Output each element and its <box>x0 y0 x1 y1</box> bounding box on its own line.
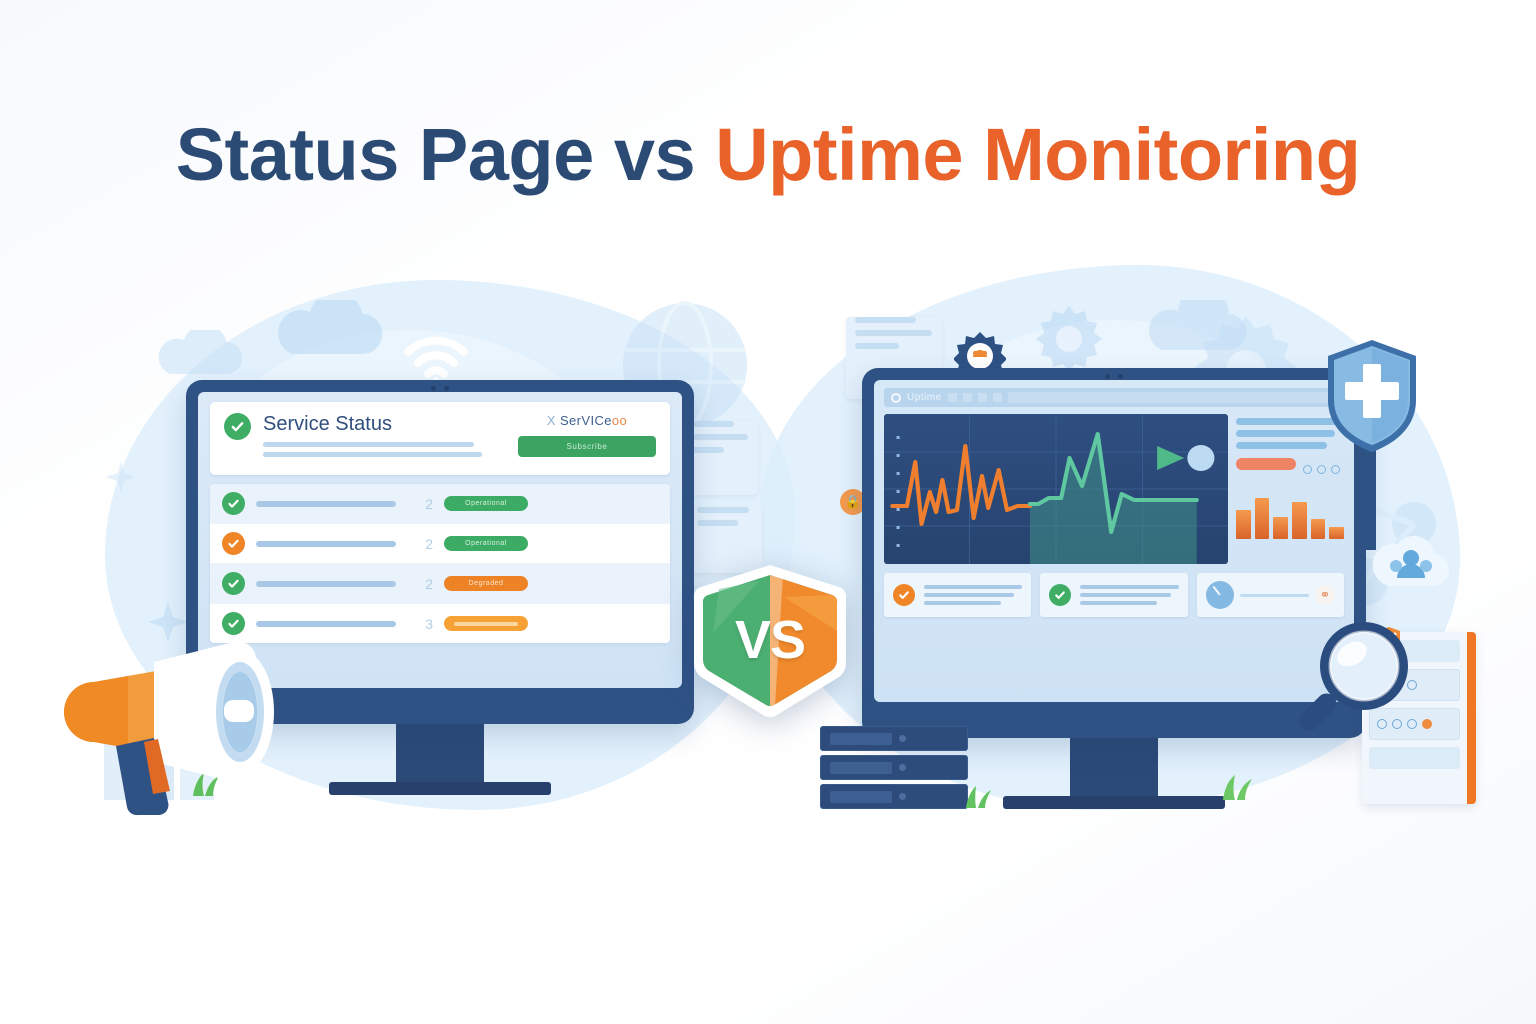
page-title: Status Page vs Uptime Monitoring <box>0 118 1536 192</box>
server-rack <box>820 726 968 813</box>
service-name-placeholder <box>256 581 396 587</box>
list-item[interactable] <box>1040 573 1187 617</box>
toolbar-segment[interactable] <box>963 393 972 402</box>
illustration-canvas: Status Page vs Uptime Monitoring <box>0 0 1536 1024</box>
connector-line <box>1240 594 1309 597</box>
check-circle-green-icon <box>224 413 251 440</box>
status-badge <box>444 616 528 631</box>
table-row[interactable]: 2 Operational <box>210 484 670 524</box>
toolbar-segment[interactable] <box>978 393 987 402</box>
row-number: 3 <box>407 616 433 632</box>
toolbar-segment[interactable] <box>993 393 1002 402</box>
monitor-neck <box>1070 738 1158 796</box>
brand-suffix: oo <box>612 413 627 428</box>
sparkle-icon <box>104 460 138 494</box>
shield-cross-icon <box>1324 338 1420 454</box>
monitor-base <box>1003 796 1225 809</box>
status-badge: Operational <box>444 496 528 511</box>
brand-x: X <box>547 413 556 428</box>
dashboard-label: Uptime <box>907 392 942 403</box>
side-bar-chart <box>1236 487 1344 539</box>
status-page-title: Service Status <box>263 413 506 435</box>
title-part-accent: Uptime Monitoring <box>715 113 1360 196</box>
shield-small-icon: ⚭ <box>1315 585 1335 605</box>
row-number: 2 <box>407 536 433 552</box>
server-unit <box>820 755 968 780</box>
server-unit <box>820 726 968 751</box>
gear-icon <box>1030 300 1108 378</box>
row-number: 2 <box>407 496 433 512</box>
list-item[interactable]: ⚭ <box>1197 573 1344 617</box>
status-badge: Operational <box>444 536 528 551</box>
magnifying-glass-icon <box>1288 614 1418 744</box>
service-status-list: 2 Operational 2 Operational <box>210 484 670 643</box>
pagination-dots[interactable] <box>1303 465 1344 474</box>
check-circle-orange-icon <box>893 584 915 606</box>
subscribe-button[interactable]: Subscribe <box>518 436 656 457</box>
table-row[interactable]: 2 Operational <box>210 524 670 564</box>
grass-decoration <box>1218 770 1264 800</box>
check-circle-green-icon <box>222 572 245 595</box>
placeholder-line <box>263 442 474 447</box>
status-badge: Degraded <box>444 576 528 591</box>
placeholder-line <box>263 452 482 457</box>
brand-text: SerVICe <box>560 413 612 428</box>
dashboard-toolbar: Uptime <box>884 388 1344 407</box>
check-circle-green-icon <box>222 492 245 515</box>
title-part-primary: Status Page vs <box>176 113 716 196</box>
server-unit <box>820 784 968 809</box>
vs-shield-badge: VS <box>689 559 851 721</box>
megaphone-icon <box>58 626 306 816</box>
placeholder-line <box>1236 430 1335 437</box>
cloud-icon <box>268 300 388 370</box>
grass-decoration <box>962 782 1002 808</box>
placeholder-line <box>1236 442 1327 449</box>
status-page-header: Service Status XSerVICeoo Subscribe <box>210 402 670 475</box>
monitor-bezel-dots <box>1105 374 1123 379</box>
vs-label: VS <box>689 559 851 721</box>
toolbar-fill <box>1008 392 1337 403</box>
server-panel-footer <box>1369 747 1460 769</box>
monitor-neck <box>396 724 484 782</box>
alert-badge <box>1236 458 1296 470</box>
gauge-icon <box>1206 581 1234 609</box>
monitor-chin <box>874 702 1354 716</box>
dashboard-cards: ⚭ <box>884 573 1344 617</box>
cloud-icon <box>1140 300 1250 364</box>
check-circle-green-icon <box>1049 584 1071 606</box>
service-name-placeholder <box>256 541 396 547</box>
user-cloud-icon <box>1372 532 1450 594</box>
monitor-base <box>329 782 551 795</box>
table-row[interactable]: 2 Degraded <box>210 564 670 604</box>
uptime-dashboard-screen: Uptime <box>874 380 1354 702</box>
check-circle-orange-icon <box>222 532 245 555</box>
monitor-bezel-dots <box>431 386 449 391</box>
list-item[interactable] <box>884 573 1031 617</box>
service-name-placeholder <box>256 501 396 507</box>
row-number: 2 <box>407 576 433 592</box>
uptime-line-chart <box>884 414 1228 564</box>
toolbar-segment[interactable] <box>948 393 957 402</box>
circle-outline-icon <box>891 393 901 403</box>
brand-label: XSerVICeoo <box>518 413 656 428</box>
